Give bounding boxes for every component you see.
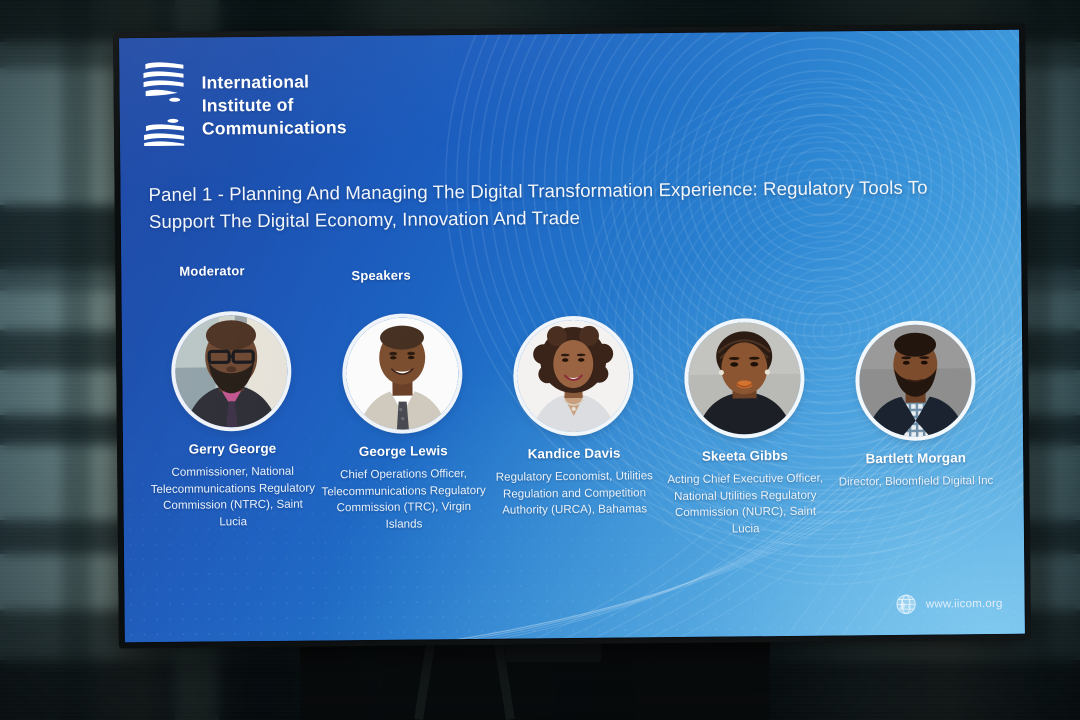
panelist-title: Regulatory Economist, Utilities Regulati… [490,468,658,519]
iic-logo: International Institute of Communication… [141,58,347,146]
slide-footer: www.iicom.org [896,593,1003,615]
organization-name: International Institute of Communication… [201,58,347,140]
presentation-display: International Institute of Communication… [113,24,1031,649]
avatar [858,324,971,437]
panelist-row: Gerry George Commissioner, National Tele… [132,302,1016,544]
organization-name-line-3: Communications [202,116,347,140]
panelist-card: Bartlett Morgan Director, Bloomfield Dig… [829,324,1001,491]
avatar [175,315,288,428]
panelist-title: Chief Operations Officer, Telecommunicat… [319,466,488,534]
panelist-name: Skeeta Gibbs [702,448,788,464]
panelist-card: George Lewis Chief Operations Officer, T… [317,317,490,534]
panelist-name: Gerry George [189,441,277,457]
wave-bars-logo-icon [141,60,186,146]
portrait-gerry-george [175,315,288,428]
avatar [688,322,801,435]
organization-name-line-2: Institute of [202,93,347,117]
panelist-name: Bartlett Morgan [865,450,966,466]
panelist-card: Skeeta Gibbs Acting Chief Executive Offi… [658,322,831,539]
panelist-card: Kandice Davis Regulatory Economist, Util… [487,319,660,519]
portrait-kandice-davis [517,319,630,432]
panelist-name: Kandice Davis [528,446,621,462]
organization-name-line-1: International [201,70,346,94]
label-speakers: Speakers [351,268,411,284]
portrait-bartlett-morgan [858,324,971,437]
portrait-skeeta-gibbs [688,322,801,435]
website-url: www.iicom.org [926,597,1003,610]
globe-icon [896,594,917,615]
panelist-card: Gerry George Commissioner, National Tele… [146,314,319,531]
portrait-george-lewis [346,317,459,430]
presentation-slide: International Institute of Communication… [119,30,1025,643]
panelist-name: George Lewis [359,443,448,459]
panelist-title: Commissioner, National Telecommunication… [149,463,318,531]
label-moderator: Moderator [179,263,245,279]
avatar [517,319,630,432]
panelist-title: Director, Bloomfield Digital Inc [839,473,994,491]
panelist-title: Acting Chief Executive Officer, National… [661,471,830,539]
avatar [346,317,459,430]
panel-title: Panel 1 - Planning And Managing The Digi… [149,174,949,236]
